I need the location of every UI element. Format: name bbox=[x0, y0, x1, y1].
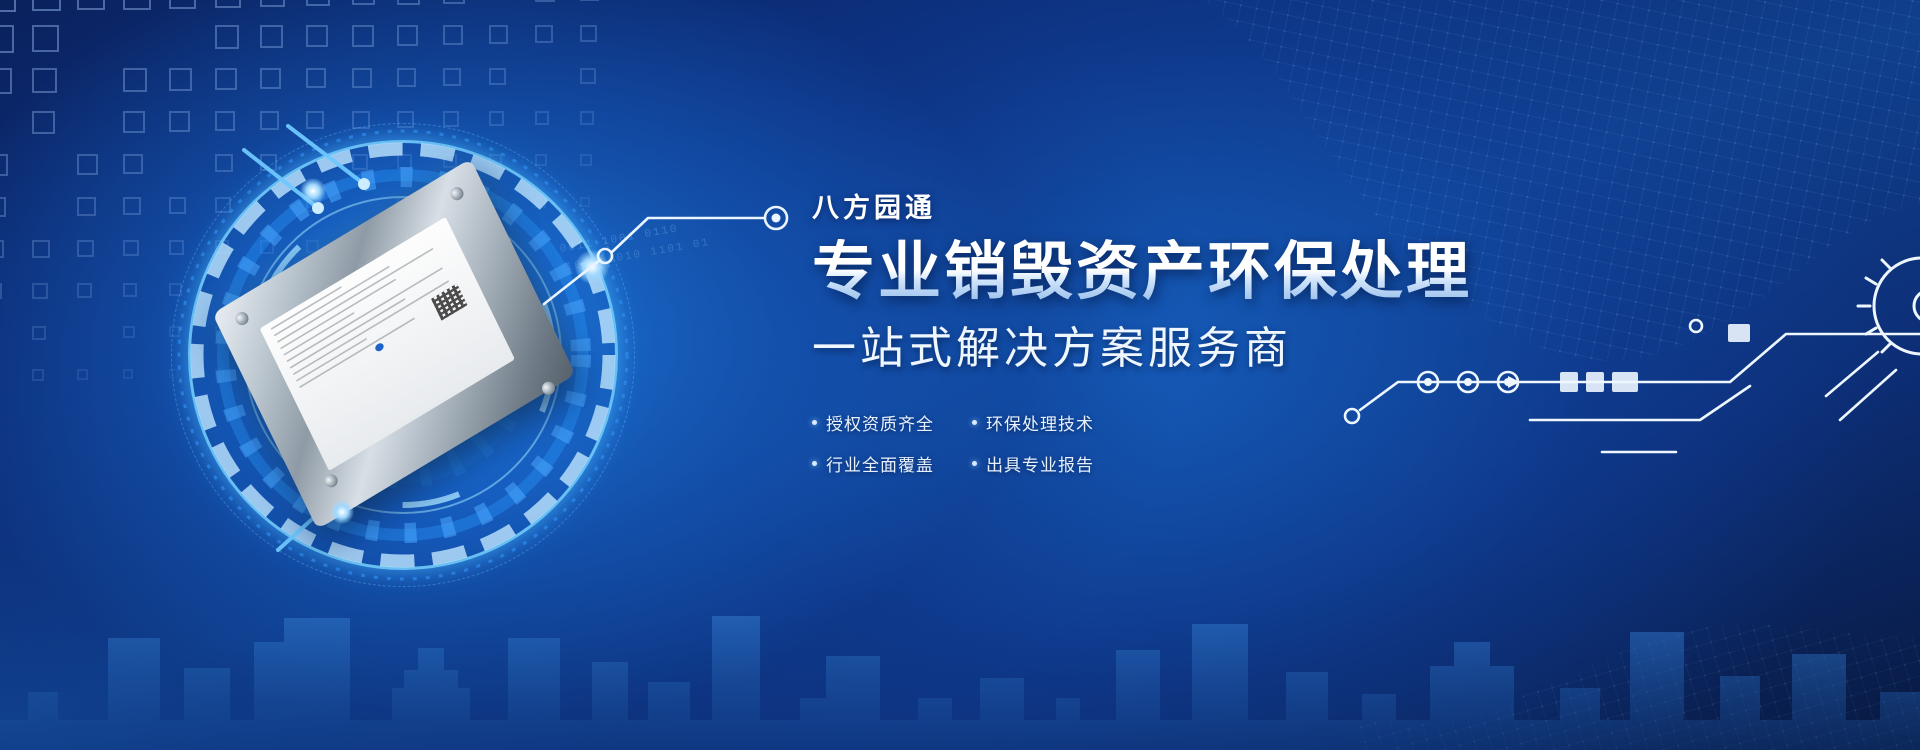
feature-label: 授权资质齐全 bbox=[826, 410, 934, 435]
grid-square bbox=[32, 0, 61, 11]
grid-square bbox=[260, 25, 283, 48]
grid-square bbox=[0, 68, 12, 94]
grid-square bbox=[580, 25, 597, 42]
grid-square bbox=[397, 0, 420, 5]
grid-square bbox=[77, 240, 94, 257]
feature-label: 环保处理技术 bbox=[986, 410, 1094, 435]
grid-square bbox=[397, 25, 418, 46]
grid-square bbox=[0, 25, 14, 53]
bullet-dot-icon bbox=[812, 461, 817, 466]
grid-square bbox=[306, 25, 328, 47]
grid-square bbox=[0, 154, 8, 176]
hdd-blue-dot bbox=[374, 342, 385, 353]
bullet-dot-icon bbox=[972, 420, 977, 425]
feature-item: 授权资质齐全 bbox=[812, 410, 958, 435]
grid-square bbox=[32, 111, 55, 134]
bullet-dot-icon bbox=[812, 420, 817, 425]
grid-square bbox=[77, 197, 96, 216]
grid-square bbox=[32, 326, 46, 340]
feature-item: 环保处理技术 bbox=[972, 410, 1118, 435]
grid-square bbox=[0, 0, 16, 12]
feature-item: 出具专业报告 bbox=[972, 451, 1118, 476]
grid-square bbox=[32, 68, 57, 93]
bullet-dot-icon bbox=[972, 461, 977, 466]
brand-eyebrow: 八方园通 bbox=[812, 186, 1532, 225]
grid-square bbox=[123, 0, 151, 10]
feature-list: 授权资质齐全 环保处理技术 行业全面覆盖 出具专业报告 bbox=[812, 410, 1532, 476]
grid-square bbox=[535, 0, 555, 2]
grid-square bbox=[77, 283, 92, 298]
grid-square bbox=[77, 369, 88, 380]
grid-square bbox=[0, 283, 2, 299]
copy-block: 八方园通 专业销毁资产环保处理 一站式解决方案服务商 授权资质齐全 环保处理技术… bbox=[812, 186, 1532, 476]
feature-label: 行业全面覆盖 bbox=[826, 451, 934, 476]
grid-square bbox=[0, 240, 4, 258]
grid-square bbox=[260, 0, 285, 7]
grid-square bbox=[169, 0, 196, 9]
grid-square bbox=[215, 0, 241, 8]
wireframe-mesh-bottom bbox=[1360, 460, 1920, 750]
hdd-tech-ring-graphic bbox=[168, 120, 638, 590]
grid-square bbox=[535, 25, 553, 43]
page-subtitle: 一站式解决方案服务商 bbox=[812, 312, 1532, 376]
grid-square bbox=[32, 240, 50, 258]
grid-square bbox=[443, 25, 463, 45]
gear-arc-icon bbox=[1826, 238, 1920, 388]
grid-square bbox=[32, 283, 48, 299]
grid-square bbox=[32, 25, 59, 52]
grid-square bbox=[352, 25, 374, 47]
grid-square bbox=[306, 0, 330, 6]
grid-square bbox=[32, 369, 44, 381]
feature-item: 行业全面覆盖 bbox=[812, 451, 958, 476]
grid-square bbox=[580, 0, 599, 1]
grid-square bbox=[77, 154, 98, 175]
page-title: 专业销毁资产环保处理 bbox=[812, 239, 1532, 306]
grid-square bbox=[489, 25, 508, 44]
grid-square bbox=[352, 0, 375, 5]
grid-square bbox=[77, 0, 105, 10]
feature-label: 出具专业报告 bbox=[986, 451, 1094, 476]
hero-banner: 1001 0110 1001 1100 0110 1011 0010 1101 … bbox=[0, 0, 1920, 750]
grid-square bbox=[215, 25, 239, 49]
grid-square bbox=[0, 197, 6, 217]
grid-square bbox=[443, 0, 465, 4]
